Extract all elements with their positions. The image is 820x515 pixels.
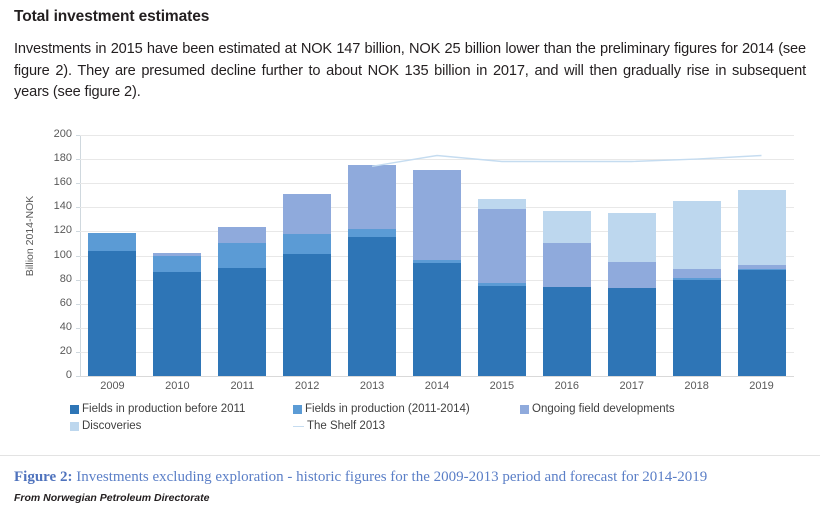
legend-item-fields-in-production-before-2011[interactable]: Fields in production before 2011	[70, 404, 245, 415]
y-tick-mark	[76, 376, 80, 377]
chart-panel: Billion 2014-NOK 02040608010012014016018…	[12, 122, 808, 449]
y-tick-mark	[76, 183, 80, 184]
y-tick-label: 160	[32, 176, 72, 188]
x-tick-label: 2017	[600, 380, 664, 392]
legend-item-fields-in-production-2011-2014[interactable]: Fields in production (2011-2014)	[293, 404, 470, 415]
legend-swatch-icon	[70, 405, 79, 414]
y-tick-mark	[76, 231, 80, 232]
y-axis-tick-labels: 020406080100120140160180200	[20, 135, 72, 376]
chart-legend: Fields in production before 2011 Fields …	[70, 404, 790, 438]
y-tick-mark	[76, 352, 80, 353]
y-tick-label: 20	[32, 345, 72, 357]
legend-swatch-icon	[293, 405, 302, 414]
y-tick-label: 100	[32, 249, 72, 261]
x-tick-label: 2015	[470, 380, 534, 392]
legend-item-label: Ongoing field developments	[532, 404, 675, 415]
legend-swatch-icon	[70, 422, 79, 431]
y-tick-label: 140	[32, 200, 72, 212]
x-tick-label: 2011	[210, 380, 274, 392]
x-tick-label: 2019	[730, 380, 794, 392]
x-tick-label: 2009	[80, 380, 144, 392]
x-tick-label: 2010	[145, 380, 209, 392]
x-tick-label: 2014	[405, 380, 469, 392]
legend-item-the-shelf-2013[interactable]: The Shelf 2013	[293, 421, 385, 432]
legend-swatch-icon	[520, 405, 529, 414]
legend-item-discoveries[interactable]: Discoveries	[70, 421, 141, 432]
y-tick-mark	[76, 135, 80, 136]
figure-source: From Norwegian Petroleum Directorate	[14, 492, 806, 504]
x-axis-line	[80, 376, 794, 377]
document-header: Total investment estimates Investments i…	[0, 0, 820, 104]
legend-item-ongoing-field-developments[interactable]: Ongoing field developments	[520, 404, 675, 415]
x-tick-label: 2016	[535, 380, 599, 392]
legend-line-icon	[293, 422, 304, 431]
y-tick-mark	[76, 280, 80, 281]
x-tick-label: 2018	[665, 380, 729, 392]
caption-divider	[0, 455, 820, 456]
figure-caption-label: Figure 2:	[14, 469, 72, 485]
shelf-2013-line-series	[80, 135, 794, 376]
legend-row-2: Discoveries The Shelf 2013	[70, 421, 790, 438]
legend-item-label: Fields in production before 2011	[82, 404, 245, 415]
caption-block: Figure 2: Investments excluding explorat…	[0, 455, 820, 504]
y-tick-label: 200	[32, 128, 72, 140]
x-tick-label: 2012	[275, 380, 339, 392]
y-tick-label: 40	[32, 321, 72, 333]
x-tick-label: 2013	[340, 380, 404, 392]
y-tick-label: 80	[32, 273, 72, 285]
page-title: Total investment estimates	[14, 8, 802, 26]
legend-item-label: Fields in production (2011-2014)	[305, 404, 470, 415]
y-tick-label: 60	[32, 297, 72, 309]
figure-caption: Figure 2: Investments excluding explorat…	[14, 469, 806, 486]
y-tick-mark	[76, 304, 80, 305]
figure-caption-text: Investments excluding exploration - hist…	[72, 469, 707, 485]
y-tick-label: 120	[32, 224, 72, 236]
y-tick-mark	[76, 207, 80, 208]
y-tick-label: 180	[32, 152, 72, 164]
y-tick-label: 0	[32, 369, 72, 381]
figure-2-chart: Billion 2014-NOK 02040608010012014016018…	[0, 122, 820, 452]
legend-item-label: The Shelf 2013	[307, 421, 385, 432]
legend-item-label: Discoveries	[82, 421, 141, 432]
y-tick-mark	[76, 159, 80, 160]
intro-paragraph: Investments in 2015 have been estimated …	[14, 39, 806, 104]
y-tick-mark	[76, 328, 80, 329]
legend-row-1: Fields in production before 2011 Fields …	[70, 404, 790, 421]
y-tick-mark	[76, 256, 80, 257]
